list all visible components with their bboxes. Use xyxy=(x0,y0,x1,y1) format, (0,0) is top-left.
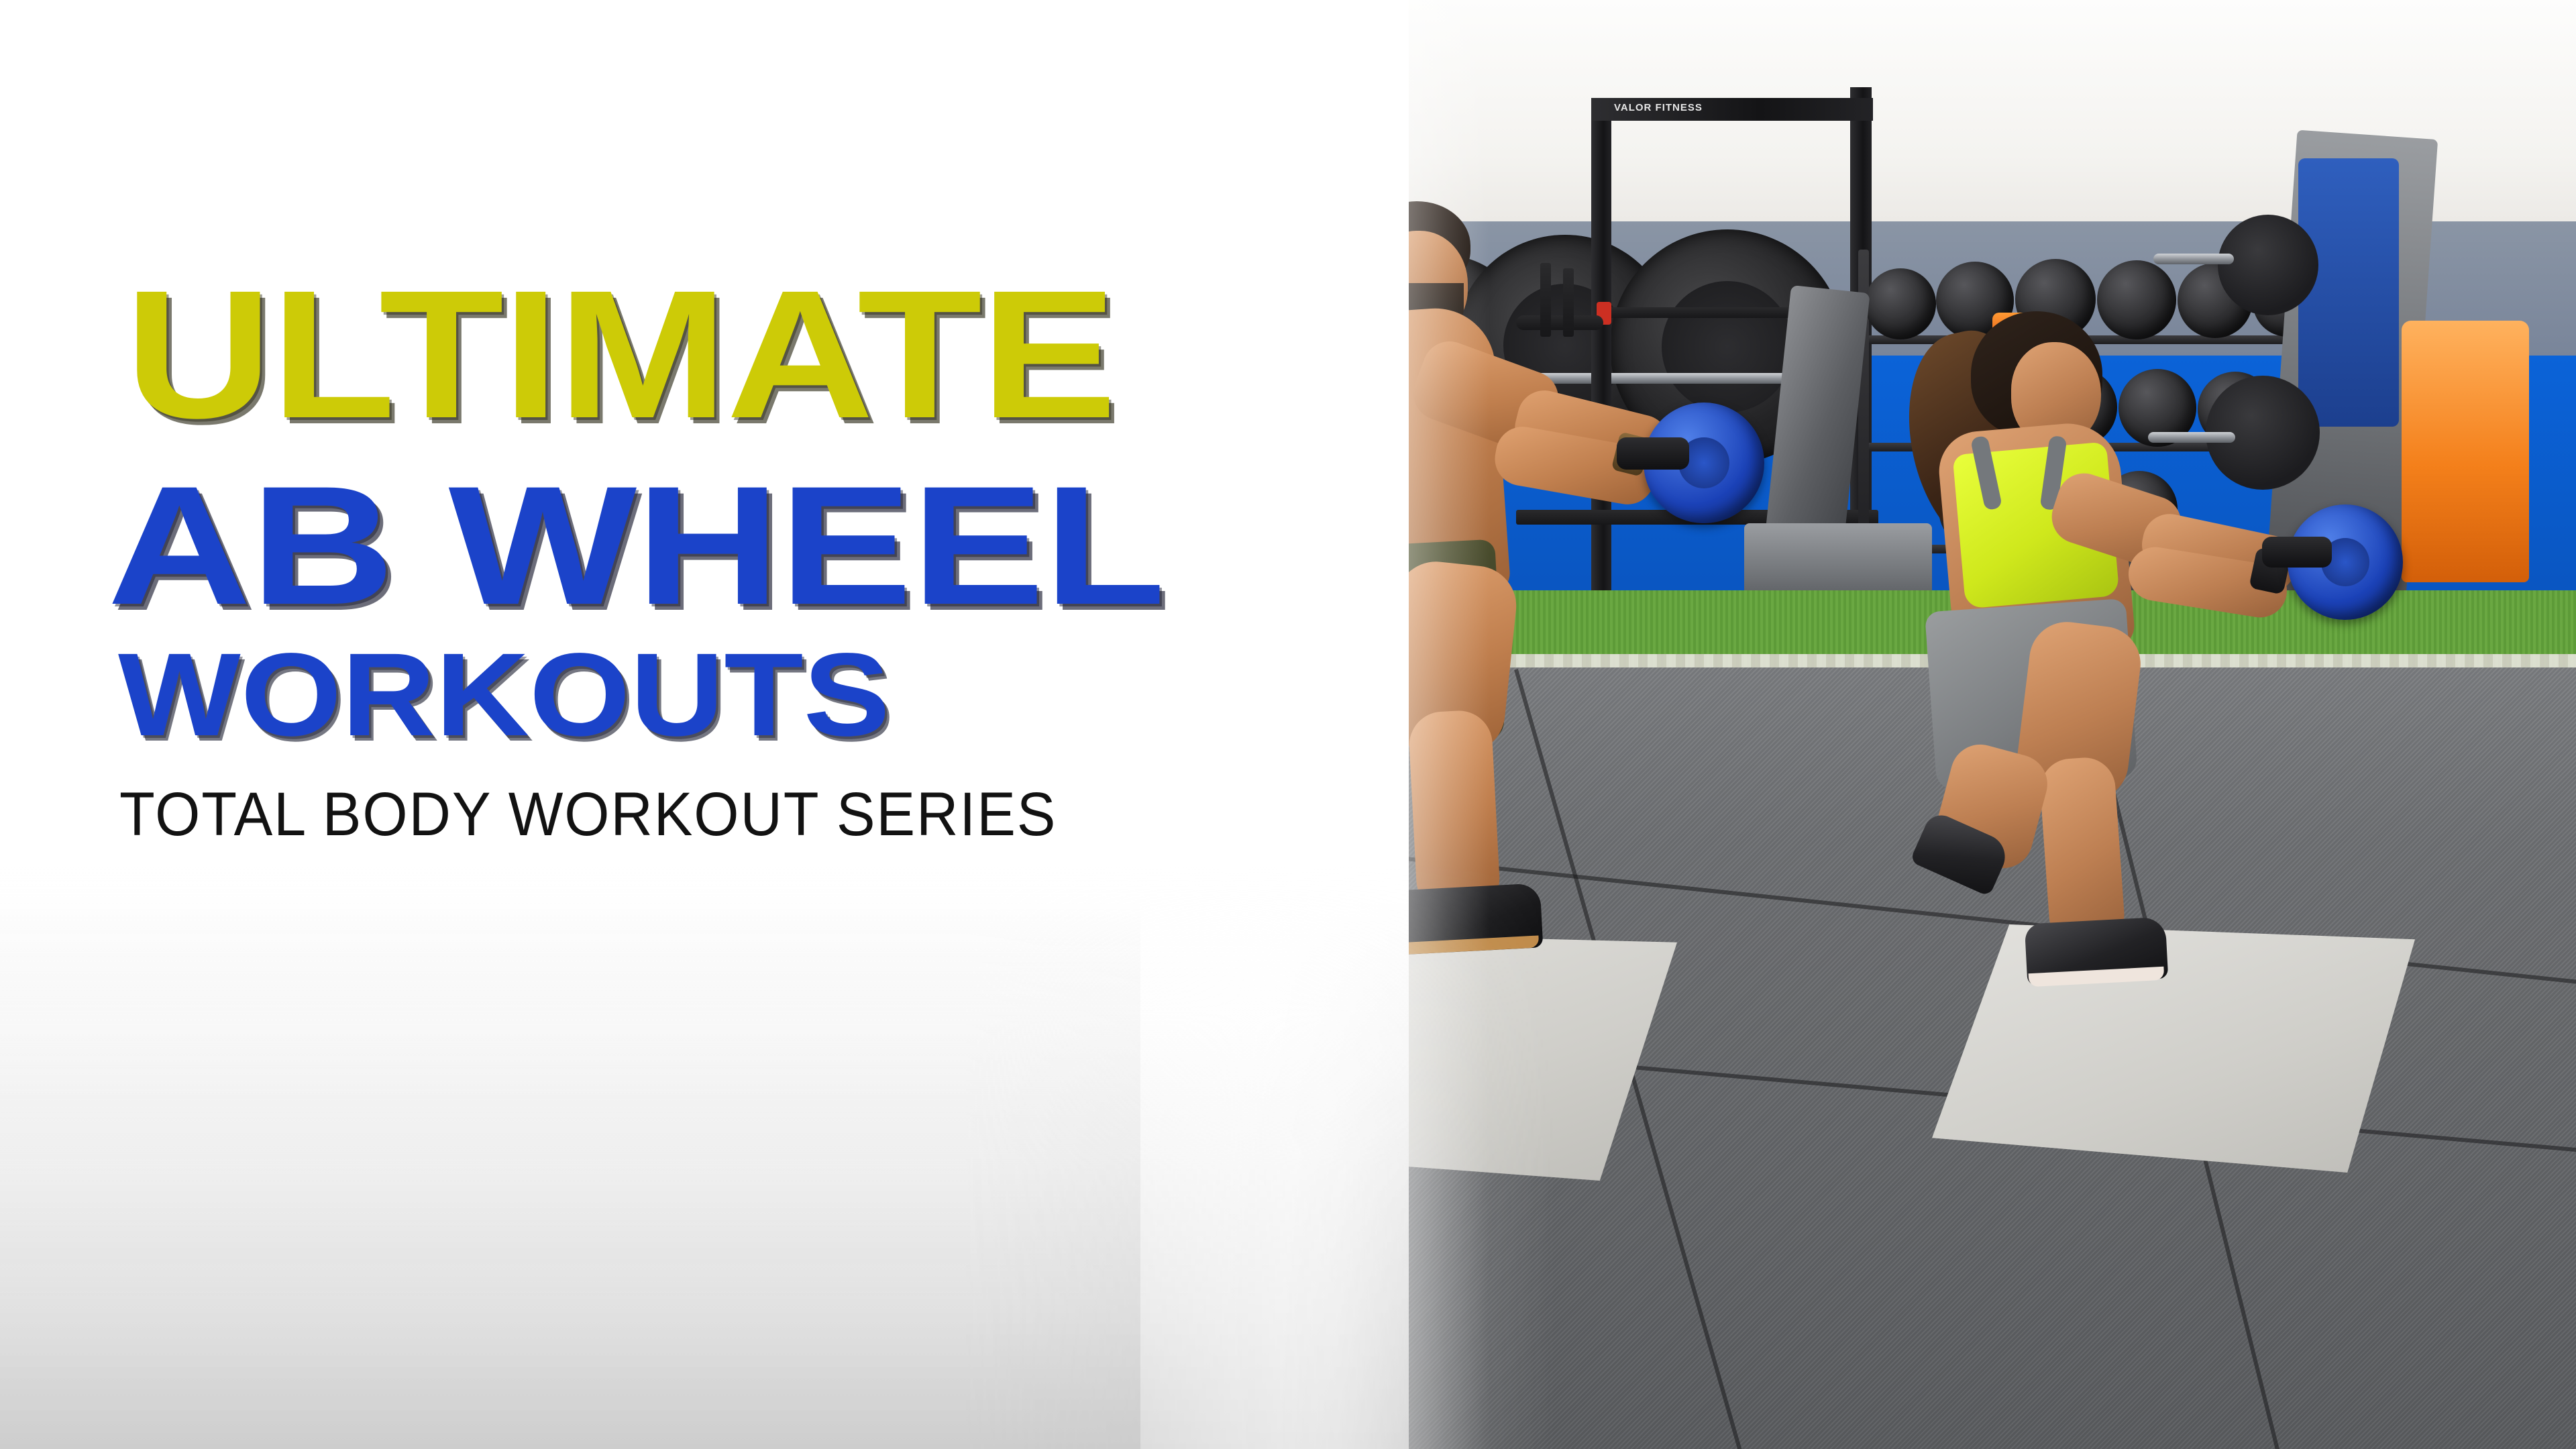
female-athlete xyxy=(1865,268,2334,1033)
subtitle-series: TOTAL BODY WORKOUT SERIES xyxy=(119,784,1057,845)
machine-handle-b xyxy=(2153,254,2234,264)
female-ab-wheel-grip xyxy=(2262,537,2332,568)
orange-cone xyxy=(2402,321,2529,582)
title-text-block: ULTIMATE AB WHEEL WORKOUTS TOTAL BODY WO… xyxy=(0,0,1409,1449)
rack-brand-label: VALOR FITNESS xyxy=(1614,102,1703,113)
title-line-ultimate: ULTIMATE xyxy=(125,263,1116,445)
male-ab-wheel-grip xyxy=(1617,437,1689,470)
title-card-stage: VALOR FITNESS xyxy=(0,0,2576,1449)
title-line-ab-wheel: AB WHEEL xyxy=(107,462,1165,631)
title-line-workouts: WORKOUTS xyxy=(118,636,890,754)
